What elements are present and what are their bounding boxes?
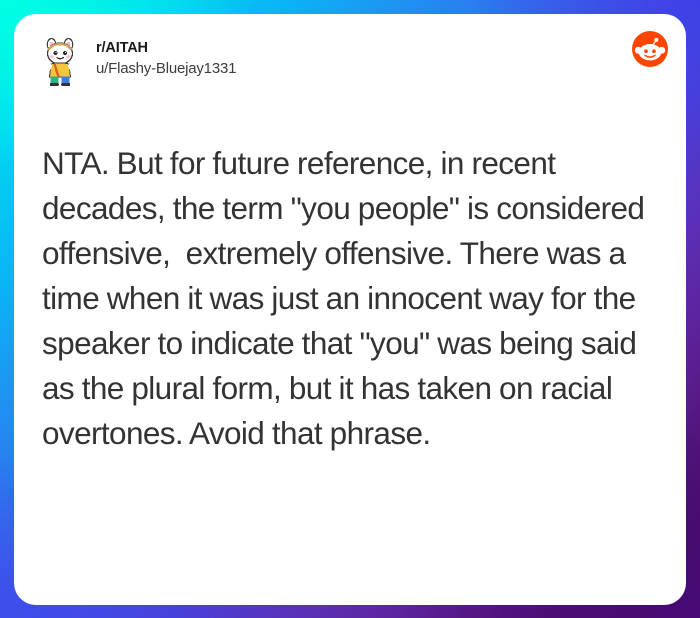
post-identity: r/AITAH u/Flashy-Bluejay1331 xyxy=(96,34,236,78)
post-body-text: NTA. But for future reference, in recent… xyxy=(14,88,686,456)
reddit-post-card: r/AITAH u/Flashy-Bluejay1331 NT xyxy=(14,14,686,605)
subreddit-name[interactable]: r/AITAH xyxy=(96,39,236,58)
post-header: r/AITAH u/Flashy-Bluejay1331 xyxy=(14,14,686,88)
reddit-logo-icon[interactable] xyxy=(632,31,668,67)
reddit-snoo-avatar-icon[interactable] xyxy=(38,36,84,88)
username[interactable]: u/Flashy-Bluejay1331 xyxy=(96,59,236,78)
